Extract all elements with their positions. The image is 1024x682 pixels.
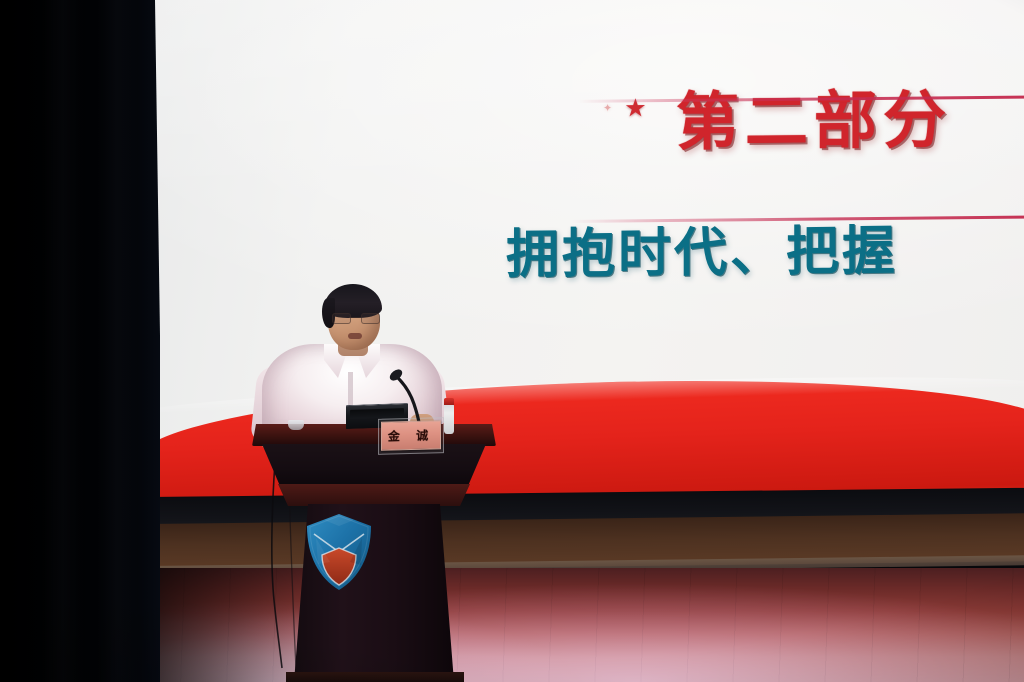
- water-bottle: [444, 404, 454, 434]
- bottle-cap: [444, 398, 454, 405]
- shield-emblem-icon: [304, 512, 374, 592]
- lectern: [252, 424, 496, 682]
- laptop-screen: [350, 408, 404, 419]
- nameplate-text: 金 诚: [388, 426, 434, 444]
- nameplate: 金 诚: [381, 420, 441, 451]
- stage-photo: ✦ ★ 第二部分 拥抱时代、把握: [0, 0, 1024, 682]
- cup: [288, 420, 304, 430]
- glasses-lens-left: [332, 313, 351, 324]
- curtain-fold: [96, 0, 138, 682]
- glasses-bridge: [349, 317, 361, 318]
- glasses-lens-right: [361, 313, 380, 324]
- slide-title: 第二部分: [676, 69, 952, 163]
- glasses-icon: [332, 313, 378, 322]
- curtain-fold: [42, 0, 84, 682]
- lectern-base: [286, 672, 464, 682]
- speaker-mouth: [348, 333, 362, 339]
- stage-curtain-left: [0, 0, 160, 682]
- lectern-front-panel: [262, 444, 486, 486]
- star-small-icon: ✦: [603, 104, 612, 115]
- lectern-mid-band: [278, 484, 470, 506]
